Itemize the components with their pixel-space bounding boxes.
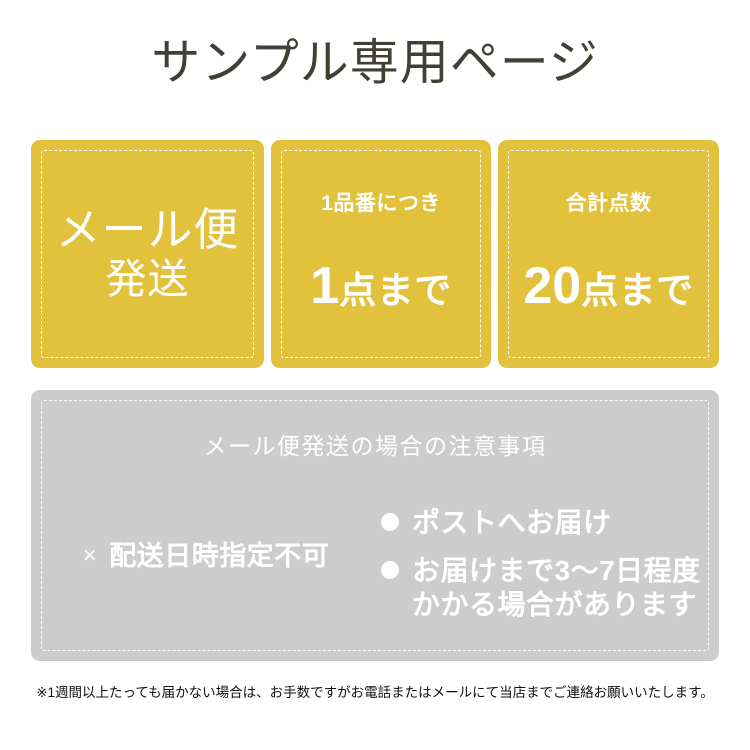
info-cards-row: メール便 発送 1品番につき 1 点まで 合計点数 20 点まで: [31, 140, 719, 368]
notice-columns: × 配送日時指定不可 ポストへお届け お届けまで3〜7日程度 かかる場合がありま…: [31, 498, 719, 628]
no-date-designation-label: 配送日時指定不可: [109, 540, 329, 572]
total-items-unit: 点まで: [581, 265, 694, 317]
list-item: ポストへお届け: [381, 506, 719, 540]
list-item: お届けまで3〜7日程度 かかる場合があります: [381, 554, 719, 622]
total-items-value: 20 点まで: [523, 260, 693, 317]
shipping-method-line2: 発送: [106, 255, 190, 303]
dashed-border-decoration: [281, 150, 481, 358]
notice-right-column: ポストへお届け お届けまで3〜7日程度 かかる場合があります: [381, 498, 719, 628]
bullet-dot-icon: [381, 513, 399, 531]
per-item-label: 1品番につき: [321, 192, 441, 216]
card-total-items-limit: 合計点数 20 点まで: [498, 140, 719, 368]
notice-panel: メール便発送の場合の注意事項 × 配送日時指定不可 ポストへお届け お届けまで3…: [31, 390, 719, 661]
per-item-number: 1: [310, 260, 339, 312]
card-shipping-method: メール便 発送: [31, 140, 264, 368]
total-items-number: 20: [523, 260, 581, 312]
notice-bullet-text: お届けまで3〜7日程度 かかる場合があります: [412, 554, 701, 622]
total-items-label: 合計点数: [566, 192, 652, 216]
bullet-dot-icon: [381, 561, 399, 579]
no-date-designation: × 配送日時指定不可: [83, 540, 330, 572]
dashed-border-decoration: [508, 150, 709, 358]
per-item-unit: 点まで: [339, 265, 452, 317]
card-per-item-limit: 1品番につき 1 点まで: [271, 140, 491, 368]
notice-heading: メール便発送の場合の注意事項: [31, 432, 719, 460]
shipping-method-line1: メール便: [55, 205, 239, 255]
cross-mark-icon: ×: [83, 540, 98, 572]
page-root: サンプル専用ページ メール便 発送 1品番につき 1 点まで 合計点数 20 点…: [0, 0, 750, 750]
per-item-value: 1 点まで: [310, 260, 451, 317]
footer-note: ※1週間以上たっても届かない場合は、お手数ですがお電話またはメールにて当店までご…: [0, 683, 750, 703]
page-title: サンプル専用ページ: [0, 34, 750, 92]
notice-bullet-text: ポストへお届け: [412, 506, 612, 540]
notice-left-column: × 配送日時指定不可: [31, 498, 381, 628]
